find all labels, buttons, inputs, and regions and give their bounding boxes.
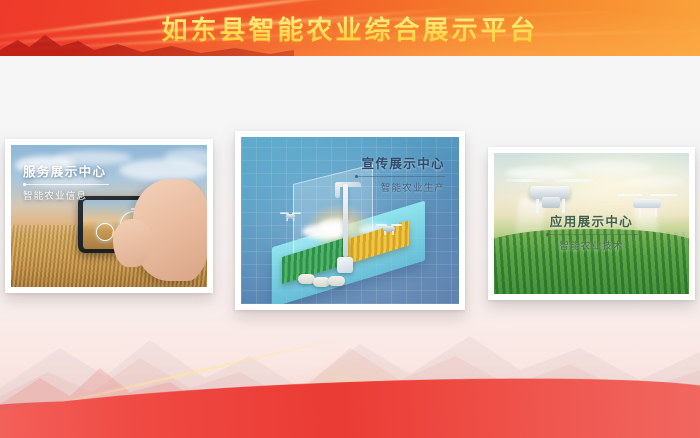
water-tank	[337, 257, 353, 273]
page-root: 如东县智能农业综合展示平台 如东县智能农业综合展示平台	[0, 0, 700, 438]
card-service-subtitle: 智能农业信息	[23, 188, 109, 202]
cloud	[623, 176, 683, 187]
card-service-title: 服务展示中心	[23, 161, 109, 180]
card-promotion-display-center[interactable]: 宣传展示中心 智能农业生产	[235, 131, 465, 310]
card-service-text-block: 服务展示中心 智能农业信息	[23, 161, 109, 202]
irrigation-pole	[343, 184, 348, 257]
hay-bale	[328, 276, 345, 286]
card-divider	[546, 234, 638, 235]
card-image-frame: 应用展示中心 智能农业技术	[494, 153, 689, 294]
card-divider	[355, 176, 445, 177]
card-promotion-text-block: 宣传展示中心 智能农业生产	[355, 153, 445, 194]
thumb	[113, 219, 152, 267]
card-image-frame: 服务展示中心 智能农业信息	[11, 145, 207, 287]
card-application-text-block: 应用展示中心 智能农业技术	[546, 211, 638, 252]
card-application-subtitle: 智能农业技术	[546, 238, 638, 252]
page-title: 如东县智能农业综合展示平台	[0, 0, 700, 56]
card-promotion-subtitle: 智能农业生产	[355, 180, 445, 194]
card-image-frame: 宣传展示中心 智能农业生产	[241, 137, 459, 304]
card-divider	[23, 184, 109, 185]
card-application-display-center[interactable]: 应用展示中心 智能农业技术	[488, 147, 695, 300]
card-application-title: 应用展示中心	[546, 211, 638, 230]
drone-icon	[506, 173, 598, 215]
card-promotion-title: 宣传展示中心	[355, 153, 445, 172]
card-service-display-center[interactable]: 服务展示中心 智能农业信息	[5, 139, 213, 293]
header-banner: 如东县智能农业综合展示平台 如东县智能农业综合展示平台	[0, 0, 700, 56]
